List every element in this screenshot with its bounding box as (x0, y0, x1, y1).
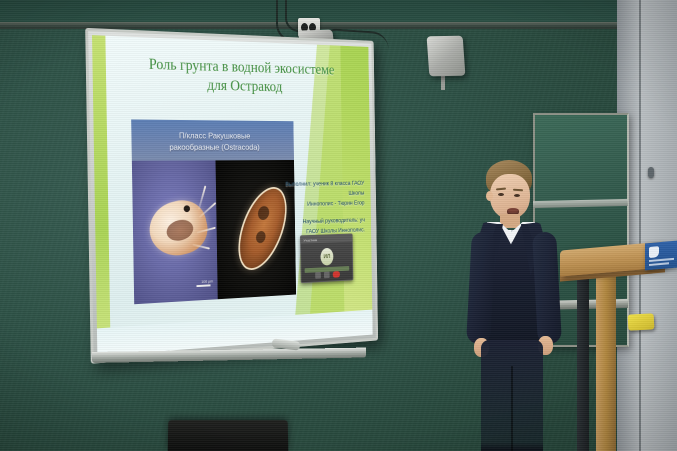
school-logo-plaque (645, 241, 677, 271)
ostracod-photo-pair: 100 µm (132, 160, 296, 304)
specimen-seta (198, 186, 206, 210)
door-seam (639, 0, 641, 451)
slide-title: Роль грунта в водной экосистеме для Остр… (134, 55, 348, 98)
interactive-whiteboard[interactable]: Роль грунта в водной экосистеме для Остр… (85, 28, 378, 364)
presenter-trousers (481, 340, 543, 451)
specimen-spot (254, 230, 267, 245)
camera-icon[interactable] (324, 272, 330, 279)
video-call-window[interactable]: Участник ИЛ (300, 234, 353, 284)
mic-icon[interactable] (315, 272, 321, 279)
video-call-title: Участник (303, 237, 317, 242)
participant-avatar: ИЛ (320, 248, 333, 266)
ostracod-specimen-round (145, 195, 212, 262)
wall-speaker-right (427, 36, 466, 77)
caption-line-1: П/класс Ракушковые (179, 130, 250, 140)
lectern-post (596, 272, 616, 451)
trouser-seam (511, 366, 513, 451)
presentation-slide: Роль грунта в водной экосистеме для Остр… (92, 35, 373, 356)
slide-caption-box: П/класс Ракушковые ракообразные (Ostraco… (131, 119, 294, 162)
projection-surface: Роль грунта в водной экосистеме для Остр… (92, 35, 373, 356)
end-call-icon[interactable] (332, 271, 339, 278)
scale-bar (196, 284, 210, 287)
door-knob[interactable] (648, 167, 654, 178)
foreground-monitor (168, 420, 289, 451)
slide-title-line-1: Роль грунта в водной экосистеме (149, 56, 335, 78)
slide-caption-text: П/класс Ракушковые ракообразные (Ostraco… (169, 129, 260, 153)
slide-title-line-2: для Остракод (134, 74, 347, 98)
board-sponge[interactable] (628, 313, 655, 330)
ostracod-photo-left: 100 µm (132, 160, 218, 304)
credit-line-1: Выполнил: ученик 8 класса ГАОУ Школы (278, 179, 365, 200)
video-call-controls[interactable] (301, 270, 352, 279)
video-call-body: ИЛ (301, 242, 353, 283)
presenter-arm (532, 231, 562, 344)
student-presenter (455, 160, 575, 451)
presenter-eye (498, 193, 504, 196)
lectern-leg (577, 272, 589, 451)
specimen-gut (165, 217, 195, 244)
presenter-ear (486, 191, 493, 201)
logo-text-line (649, 258, 674, 262)
classroom-scene: Роль грунта в водной экосистеме для Остр… (0, 0, 677, 451)
specimen-spot (256, 204, 271, 222)
logo-mark-icon (649, 246, 659, 258)
specimen-eye (183, 205, 190, 213)
credit-line-2: Иннополис - Тюрин Егор (278, 199, 364, 211)
slide-credits: Выполнил: ученик 8 класса ГАОУ Школы Инн… (278, 179, 365, 238)
presenter-eye (514, 194, 520, 197)
scale-label: 100 µm (201, 279, 213, 284)
slide-accent-left (92, 35, 111, 356)
caption-line-2: ракообразные (Ostracoda) (169, 142, 259, 152)
logo-text-line (649, 262, 669, 265)
